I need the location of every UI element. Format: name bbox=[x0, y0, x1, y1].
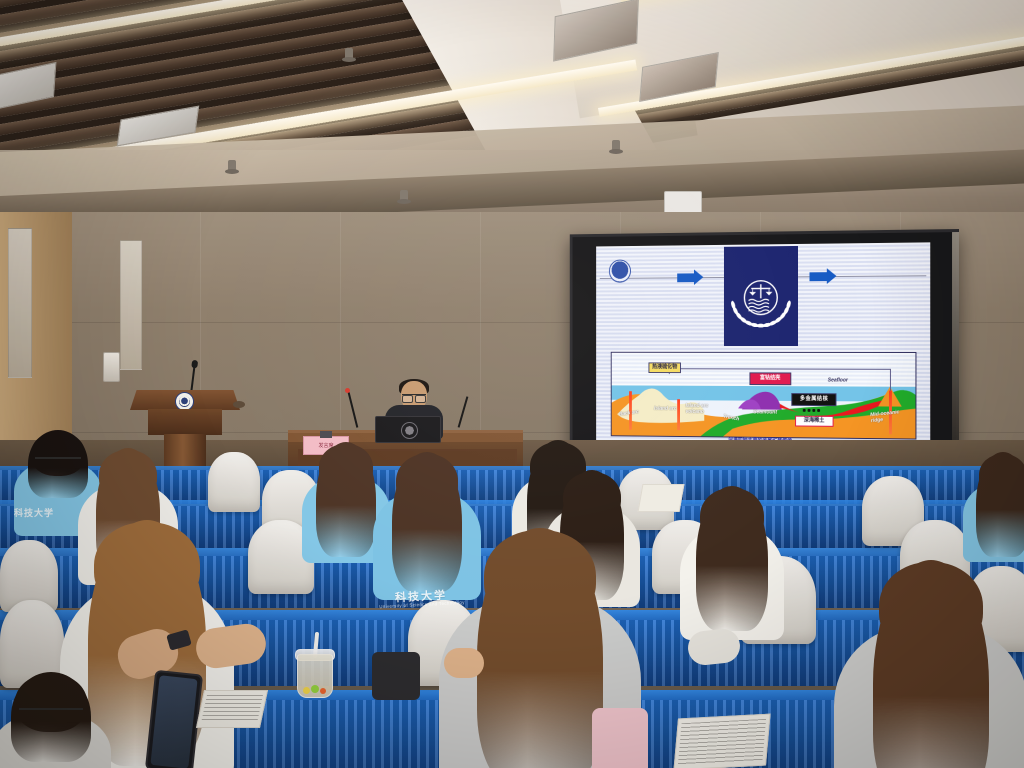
english-label-seamount: Seamount bbox=[753, 409, 777, 415]
english-label-seafloor: Seafloor bbox=[828, 378, 848, 384]
lecture-room-photo: 热液硫化物 富钴结壳 多金属结核 深海稀土 Seafloor Back arc … bbox=[0, 0, 1024, 768]
flow-arrow-2-head bbox=[827, 268, 837, 284]
tissue-box bbox=[638, 484, 685, 512]
bubble-tea-cup[interactable] bbox=[296, 640, 332, 696]
sprinkler-head-5 bbox=[612, 140, 620, 153]
wall-speaker bbox=[103, 352, 120, 382]
laptop-logo-icon bbox=[401, 422, 418, 439]
flow-arrow-2-body bbox=[809, 272, 826, 281]
handbag bbox=[372, 652, 420, 700]
wall-tile bbox=[340, 212, 481, 323]
sprinkler-head-3 bbox=[228, 160, 236, 173]
lectern-lamp bbox=[233, 401, 245, 408]
presentation-screen[interactable]: 热液硫化物 富钴结壳 多金属结核 深海稀土 Seafloor Back arc … bbox=[570, 229, 959, 465]
sprinkler-head-4 bbox=[400, 190, 408, 203]
cup-decoration bbox=[303, 685, 329, 699]
slide-content: 热液硫化物 富钴结壳 多金属结核 深海稀土 Seafloor Back arc … bbox=[596, 242, 930, 447]
english-label-island-arc-volcano: Island arc volcano bbox=[686, 403, 712, 415]
notebook-1 bbox=[196, 690, 268, 728]
flow-arrow-1-body bbox=[677, 273, 694, 282]
pink-bag bbox=[592, 708, 648, 768]
sprinkler-head-1 bbox=[345, 48, 353, 61]
polymetallic-nodule-row bbox=[803, 409, 820, 412]
glasses-icon bbox=[402, 394, 426, 401]
label-deep-sea-rare-earth: 深海稀土 bbox=[795, 416, 833, 428]
glasses-icon bbox=[19, 708, 83, 710]
person-hair bbox=[696, 486, 768, 631]
isa-emblem-graphic bbox=[727, 261, 795, 332]
notebook-lines bbox=[201, 695, 263, 723]
flow-arrow-1-head bbox=[694, 269, 703, 285]
diagram-connector-right bbox=[890, 369, 891, 393]
audience-member bbox=[676, 486, 788, 656]
label-polymetallic-nodules: 多金属结核 bbox=[791, 393, 837, 406]
label-hydrothermal-sulfides: 热液硫化物 bbox=[648, 362, 680, 373]
smartphone[interactable] bbox=[145, 670, 203, 768]
audience-member bbox=[960, 452, 1024, 574]
microphone-head-left bbox=[345, 388, 350, 393]
audience-member bbox=[826, 560, 1024, 768]
isa-emblem-svg bbox=[727, 261, 795, 332]
deep-sea-mineral-diagram: 热液硫化物 富钴结壳 多金属结核 深海稀土 Seafloor Back arc … bbox=[611, 352, 917, 440]
chair-0[interactable] bbox=[208, 452, 260, 512]
lectern-body bbox=[148, 409, 222, 435]
notebook-2 bbox=[673, 714, 770, 768]
laptop[interactable] bbox=[375, 416, 441, 443]
cup-body bbox=[297, 654, 333, 698]
shirt-text-chinese-2: 科技大学 bbox=[4, 506, 64, 519]
person-arm bbox=[444, 648, 484, 678]
person-hair bbox=[11, 672, 92, 762]
person-hair bbox=[976, 452, 1024, 557]
phone-screen bbox=[150, 675, 197, 768]
person-hair bbox=[477, 528, 602, 768]
acoustic-strip-1 bbox=[8, 228, 32, 378]
english-label-island-arc: Island arc bbox=[654, 406, 676, 412]
notebook-lines-2 bbox=[678, 719, 766, 765]
acoustic-strip-2 bbox=[120, 240, 142, 370]
screen-edge-highlight bbox=[952, 232, 959, 462]
institute-logo-icon bbox=[609, 259, 631, 282]
label-cobalt-rich-crust: 富钴结壳 bbox=[749, 372, 790, 385]
hydrothermal-plume-2 bbox=[677, 399, 680, 430]
isa-emblem bbox=[724, 246, 798, 346]
audience-member bbox=[0, 672, 116, 768]
wall-tile bbox=[200, 212, 341, 323]
